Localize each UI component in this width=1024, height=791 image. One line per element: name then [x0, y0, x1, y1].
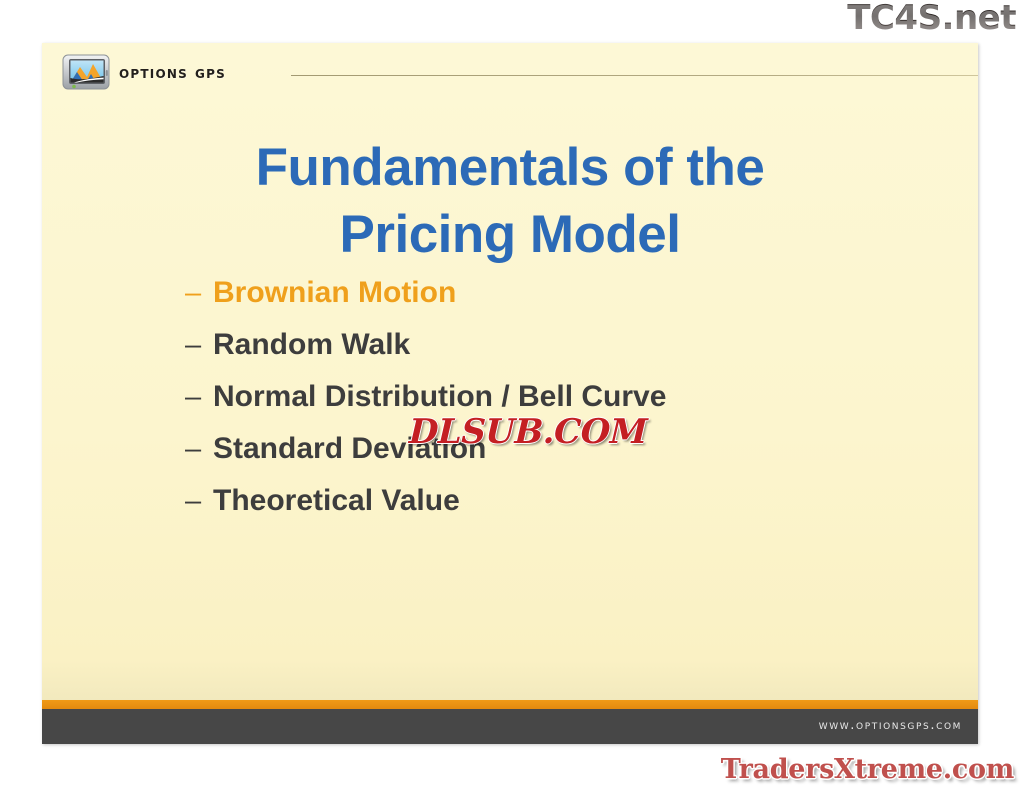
accent-bar: [42, 700, 978, 709]
logo-wordmark: Options GPS: [119, 63, 226, 83]
list-item: – Random Walk: [185, 328, 945, 380]
presentation-slide: Options GPS Fundamentals of the Pricing …: [42, 43, 978, 744]
page-title: Fundamentals of the Pricing Model: [82, 134, 938, 269]
gps-device-icon: [60, 53, 112, 93]
header-divider: [291, 75, 978, 76]
bullet-list: – Brownian Motion – Random Walk – Normal…: [185, 276, 945, 536]
footer-url-label: www.OptionsGPS.com: [819, 718, 962, 733]
list-item-label: Theoretical Value: [213, 484, 460, 518]
tradersxtreme-brand-text: TradersXtreme.com: [721, 754, 1014, 785]
list-item-label: Brownian Motion: [213, 276, 456, 310]
bullet-dash-icon: –: [185, 487, 213, 516]
bullet-dash-icon: –: [185, 279, 213, 308]
dlsub-watermark: DLSUB.COM: [408, 412, 647, 452]
bullet-dash-icon: –: [185, 331, 213, 360]
title-line-2: Pricing Model: [82, 201, 938, 268]
slide-footer: www.OptionsGPS.com: [42, 709, 978, 744]
list-item: – Brownian Motion: [185, 276, 945, 328]
list-item: – Theoretical Value: [185, 484, 945, 536]
slide-header: Options GPS: [42, 43, 978, 99]
tc4s-brand-text: TC4S.net: [847, 0, 1016, 38]
bullet-dash-icon: –: [185, 383, 213, 412]
title-line-1: Fundamentals of the: [82, 134, 938, 201]
list-item-label: Random Walk: [213, 328, 410, 362]
bullet-dash-icon: –: [185, 435, 213, 464]
list-item-label: Normal Distribution / Bell Curve: [213, 380, 666, 414]
